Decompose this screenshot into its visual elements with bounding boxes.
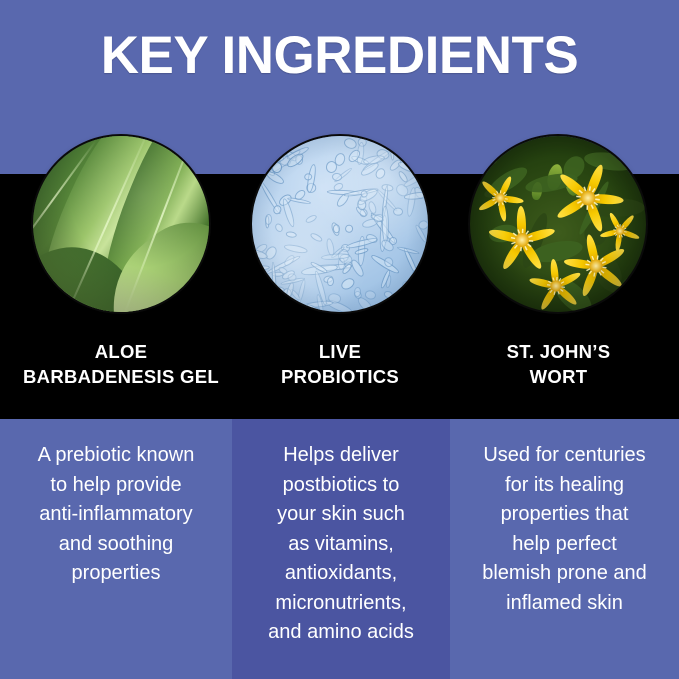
description-column-st-johns-wort: Used for centuries for its healing prope… bbox=[450, 419, 679, 679]
ingredient-images-row bbox=[0, 136, 679, 318]
ingredient-label-aloe: ALOE BARBADENESIS GEL bbox=[0, 340, 242, 389]
circle-frame-aloe bbox=[33, 136, 209, 312]
ingredient-labels-row: ALOE BARBADENESIS GEL LIVE PROBIOTICS ST… bbox=[0, 340, 679, 410]
ingredient-image-probiotics bbox=[252, 136, 428, 312]
key-ingredients-infographic: KEY INGREDIENTS bbox=[0, 0, 679, 679]
circle-frame-probiotics bbox=[252, 136, 428, 312]
description-text-aloe: A prebiotic known to help provide anti-i… bbox=[16, 441, 216, 589]
ingredient-image-aloe bbox=[33, 136, 209, 312]
descriptions-row: A prebiotic known to help provide anti-i… bbox=[0, 419, 679, 679]
ingredient-image-st-johns-wort bbox=[470, 136, 646, 312]
st-johns-wort-flowers-photo bbox=[470, 136, 646, 312]
aloe-leaves-photo bbox=[33, 136, 209, 312]
circle-frame-st-johns-wort bbox=[470, 136, 646, 312]
page-title: KEY INGREDIENTS bbox=[0, 27, 679, 85]
ingredient-label-probiotics: LIVE PROBIOTICS bbox=[242, 340, 438, 389]
description-text-st-johns-wort: Used for centuries for its healing prope… bbox=[466, 441, 663, 618]
ingredient-label-st-johns-wort: ST. JOHN’S WORT bbox=[438, 340, 679, 389]
live-probiotics-microscopy-photo bbox=[252, 136, 428, 312]
description-text-probiotics: Helps deliver postbiotics to your skin s… bbox=[248, 441, 434, 648]
description-column-probiotics: Helps deliver postbiotics to your skin s… bbox=[232, 419, 450, 679]
description-column-aloe: A prebiotic known to help provide anti-i… bbox=[0, 419, 232, 679]
